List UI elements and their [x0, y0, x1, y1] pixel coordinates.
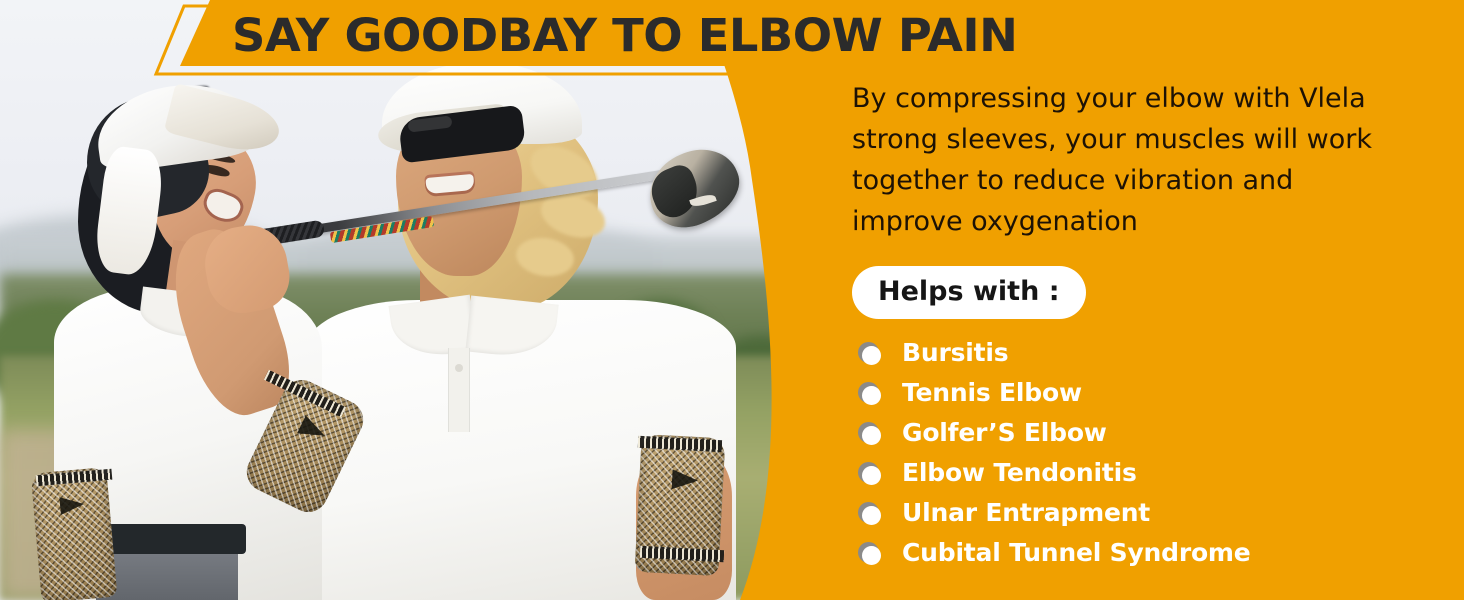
list-item-label: Cubital Tunnel Syndrome	[902, 538, 1251, 567]
list-item-label: Tennis Elbow	[902, 378, 1082, 407]
bullet-dot-icon	[858, 382, 881, 405]
body-paragraph: By compressing your elbow with Vlela str…	[852, 78, 1412, 242]
promotional-banner: SAY GOODBAY TO ELBOW PAIN By compressing…	[0, 0, 1464, 600]
bullet-dot-icon	[858, 462, 881, 485]
list-item-label: Bursitis	[902, 338, 1008, 367]
elbow-compression-sleeve	[30, 467, 117, 600]
lifestyle-photo	[0, 0, 860, 600]
bullet-dot-icon	[858, 422, 881, 445]
list-item: Ulnar Entrapment	[852, 493, 1452, 533]
helps-with-badge: Helps with :	[852, 266, 1086, 319]
content-column: By compressing your elbow with Vlela str…	[852, 78, 1452, 573]
conditions-list: Bursitis Tennis Elbow Golfer’S Elbow Elb…	[852, 333, 1452, 573]
man-shirt-button	[455, 364, 463, 372]
list-item: Bursitis	[852, 333, 1452, 373]
list-item: Golfer’S Elbow	[852, 413, 1452, 453]
bullet-dot-icon	[858, 542, 881, 565]
page-title: SAY GOODBAY TO ELBOW PAIN	[232, 6, 1097, 66]
list-item: Tennis Elbow	[852, 373, 1452, 413]
list-item-label: Elbow Tendonitis	[902, 458, 1137, 487]
list-item-label: Ulnar Entrapment	[902, 498, 1150, 527]
woman-belt	[96, 524, 246, 554]
man-shirt-placket	[448, 348, 470, 432]
list-item: Cubital Tunnel Syndrome	[852, 533, 1452, 573]
list-item-label: Golfer’S Elbow	[902, 418, 1107, 447]
bullet-dot-icon	[858, 502, 881, 525]
bullet-dot-icon	[858, 342, 881, 365]
list-item: Elbow Tendonitis	[852, 453, 1452, 493]
